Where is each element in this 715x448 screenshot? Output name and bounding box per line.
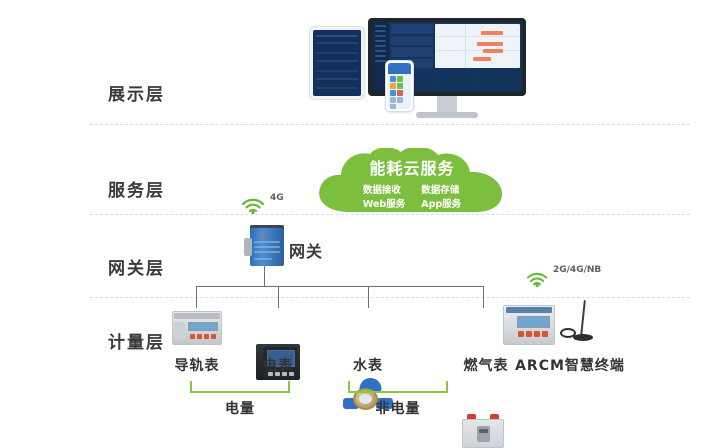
- cloud-title: 能耗云服务: [369, 155, 454, 179]
- cloud-service-2: 数据存储: [421, 182, 461, 196]
- phone-device: [385, 60, 414, 112]
- monitor-stand: [437, 96, 457, 112]
- bracket-electric: [190, 381, 290, 393]
- divider-gateway-metering: [90, 297, 690, 298]
- wire-bus: [196, 286, 483, 287]
- arcm-terminal-device: [503, 305, 555, 345]
- meter-label-water: 水表: [338, 355, 398, 375]
- wire-drop-gas: [483, 286, 484, 308]
- tablet-device: [309, 26, 365, 100]
- antenna-icon: [560, 300, 596, 346]
- meter-label-panel: 电表: [248, 355, 308, 375]
- dashboard-map: [435, 24, 520, 68]
- cloud-service-3: Web服务: [363, 196, 405, 210]
- wire-drop-panel: [278, 286, 279, 308]
- bracket-non-electric: [348, 381, 448, 393]
- divider-display-service: [90, 124, 690, 125]
- cloud-service-1: 数据接收: [363, 182, 405, 196]
- wire-drop-water: [368, 286, 369, 308]
- terminal-label: ARCM智慧终端: [505, 355, 635, 375]
- meter-label-din-rail: 导轨表: [157, 355, 237, 375]
- gateway-network-label: 4G: [270, 193, 284, 203]
- tablet-screen: [313, 30, 361, 96]
- cloud-service-4: App服务: [421, 196, 461, 210]
- monitor-base: [416, 112, 478, 118]
- wire-drop-din: [196, 286, 197, 308]
- terminal-network-label: 2G/4G/NB: [553, 265, 601, 275]
- layer-label-display: 展示层: [108, 80, 198, 105]
- layer-label-service: 服务层: [108, 176, 198, 201]
- cloud-service: 能耗云服务 数据接收 数据存储 Web服务 App服务: [312, 148, 512, 214]
- architecture-diagram: 展示层 服务层 网关层 计量层: [0, 0, 715, 443]
- wifi-icon: [240, 196, 266, 214]
- gateway-label: 网关: [289, 238, 323, 262]
- wifi-icon: [525, 270, 549, 287]
- layer-label-gateway: 网关层: [108, 254, 198, 279]
- meter-din-rail: [172, 311, 222, 345]
- group-label-non-electric: 非电量: [348, 398, 448, 418]
- wire-gateway-stem: [264, 266, 265, 286]
- gateway-device: [244, 228, 284, 266]
- phone-screen: [388, 63, 411, 109]
- divider-service-gateway: [90, 214, 690, 215]
- group-label-electric: 电量: [190, 398, 290, 418]
